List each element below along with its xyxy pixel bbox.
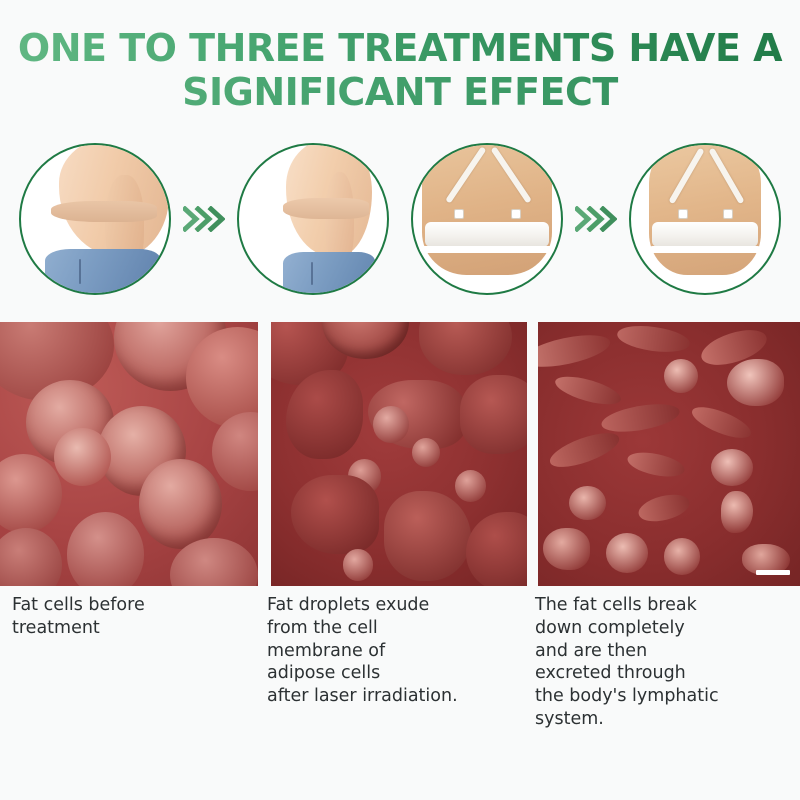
after-image-back-view xyxy=(629,143,781,295)
micrograph-panel-row xyxy=(0,322,800,586)
before-after-comparison-row xyxy=(0,134,800,304)
comparison-pair-back-view xyxy=(411,143,781,295)
before-image-side-profile xyxy=(19,143,171,295)
page-title-line-1: ONE TO THREE TREATMENTS HAVE A xyxy=(0,26,800,70)
page-title: ONE TO THREE TREATMENTS HAVE A SIGNIFICA… xyxy=(0,0,800,114)
micrograph-panel-fat-cells-broken-down xyxy=(538,322,800,586)
micrograph-panel-fat-cells-intact xyxy=(0,322,258,586)
caption-fat-cells-intact: Fat cells before treatment xyxy=(0,594,258,731)
comparison-pair-side-profile xyxy=(19,143,389,295)
micrograph-panel-fat-droplets-exuding xyxy=(271,322,527,586)
micrograph-caption-row: Fat cells before treatment Fat droplets … xyxy=(0,594,800,731)
after-image-side-profile xyxy=(237,143,389,295)
page-title-line-2: SIGNIFICANT EFFECT xyxy=(0,70,800,114)
caption-fat-droplets-exuding: Fat droplets exude from the cell membran… xyxy=(258,594,527,731)
caption-fat-cells-broken-down: The fat cells break down completely and … xyxy=(527,594,800,731)
before-image-back-view xyxy=(411,143,563,295)
double-chevron-right-icon xyxy=(183,206,225,232)
double-chevron-right-icon xyxy=(575,206,617,232)
scale-bar xyxy=(756,570,790,575)
